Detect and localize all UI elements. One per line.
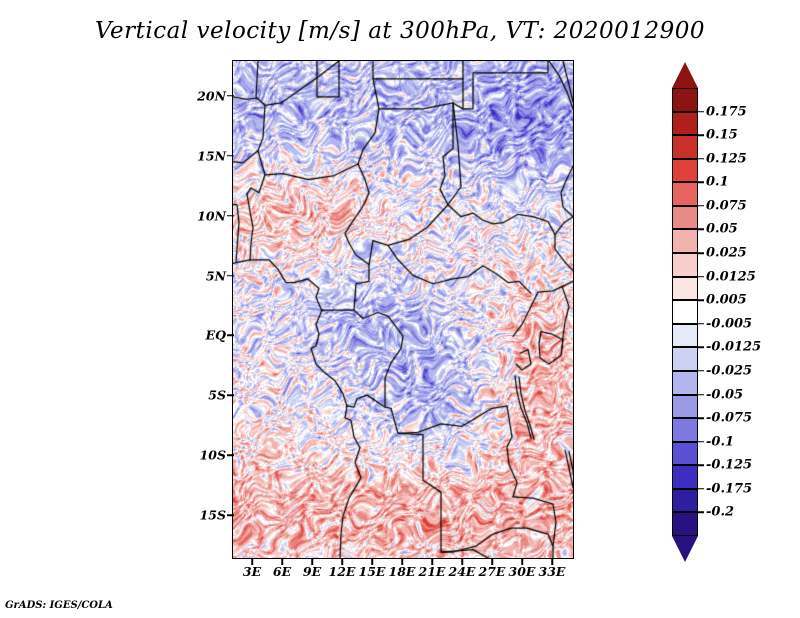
colorbar-tick xyxy=(698,347,704,349)
y-tick-label: 10S xyxy=(200,448,226,463)
colorbar-label: 0.025 xyxy=(706,246,747,261)
colorbar-tick xyxy=(698,370,704,372)
colorbar-label: 0.075 xyxy=(706,198,747,213)
colorbar-tick xyxy=(698,441,704,443)
colorbar-tick xyxy=(698,205,704,207)
colorbar-cell xyxy=(672,371,698,395)
colorbar-label: 0.125 xyxy=(706,151,747,166)
x-tick-mark xyxy=(341,558,343,565)
colorbar-tick xyxy=(698,488,704,490)
colorbar-label: -0.125 xyxy=(706,458,752,473)
y-tick-mark xyxy=(227,514,234,516)
colorbar-cell xyxy=(672,395,698,419)
colorbar-label: 0.15 xyxy=(706,128,738,143)
colorbar-cell xyxy=(672,418,698,442)
colorbar-tick xyxy=(698,182,704,184)
colorbar-label: -0.175 xyxy=(706,481,752,496)
colorbar-label: -0.0125 xyxy=(706,340,761,355)
colorbar-tick xyxy=(698,252,704,254)
y-tick-mark xyxy=(227,275,234,277)
x-tick-mark xyxy=(461,558,463,565)
y-tick-label: 20N xyxy=(197,88,226,103)
y-tick-mark xyxy=(227,454,234,456)
colorbar-cell xyxy=(672,135,698,159)
page-title: Vertical velocity [m/s] at 300hPa, VT: 2… xyxy=(0,18,800,44)
x-tick-mark xyxy=(431,558,433,565)
colorbar-label: 0.005 xyxy=(706,293,747,308)
colorbar-label: -0.005 xyxy=(706,316,752,331)
x-tick-mark xyxy=(281,558,283,565)
colorbar-label: 0.0125 xyxy=(706,269,756,284)
colorbar-tick xyxy=(698,465,704,467)
colorbar-cell xyxy=(672,277,698,301)
colorbar-tick xyxy=(698,323,704,325)
y-tick-label: 15N xyxy=(197,148,226,163)
colorbar-cell xyxy=(672,489,698,513)
colorbar-cell xyxy=(672,253,698,277)
y-tick-mark xyxy=(227,335,234,337)
colorbar-cell xyxy=(672,442,698,466)
colorbar-tick xyxy=(698,512,704,514)
colorbar-label: -0.1 xyxy=(706,434,734,449)
y-axis-labels: 20N15N10N5NEQ5S10S15S xyxy=(190,0,226,618)
y-tick-label: EQ xyxy=(206,328,226,343)
colorbar-cell xyxy=(672,206,698,230)
colorbar-cell xyxy=(672,512,698,536)
colorbar-tick xyxy=(698,111,704,113)
y-tick-mark xyxy=(227,155,234,157)
y-tick-mark xyxy=(227,95,234,97)
colorbar-cell xyxy=(672,324,698,348)
grads-credit: GrADS: IGES/COLA xyxy=(5,600,113,611)
x-tick-mark xyxy=(311,558,313,565)
colorbar-tick xyxy=(698,134,704,136)
colorbar-tick xyxy=(698,417,704,419)
colorbar-label: -0.2 xyxy=(706,505,734,520)
x-tick-mark xyxy=(521,558,523,565)
colorbar: 0.1750.150.1250.10.0750.050.0250.01250.0… xyxy=(672,62,698,562)
x-tick-mark xyxy=(401,558,403,565)
colorbar-label: -0.075 xyxy=(706,411,752,426)
y-tick-mark xyxy=(227,395,234,397)
colorbar-extend-min-arrow xyxy=(672,536,698,562)
colorbar-label: 0.05 xyxy=(706,222,738,237)
colorbar-cell xyxy=(672,229,698,253)
x-tick-mark xyxy=(371,558,373,565)
map-plot-area xyxy=(232,60,574,559)
colorbar-swatches xyxy=(672,88,698,536)
colorbar-label: -0.025 xyxy=(706,363,752,378)
colorbar-label: -0.05 xyxy=(706,387,743,402)
x-tick-mark xyxy=(251,558,253,565)
colorbar-tick xyxy=(698,229,704,231)
y-tick-label: 5S xyxy=(208,388,226,403)
colorbar-cell xyxy=(672,300,698,324)
y-tick-mark xyxy=(227,215,234,217)
x-tick-mark xyxy=(551,558,553,565)
colorbar-tick xyxy=(698,394,704,396)
colorbar-cell xyxy=(672,112,698,136)
colorbar-cell xyxy=(672,88,698,112)
colorbar-label: 0.1 xyxy=(706,175,729,190)
x-tick-mark xyxy=(491,558,493,565)
colorbar-extend-max-arrow xyxy=(672,62,698,88)
colorbar-cell xyxy=(672,159,698,183)
colorbar-label: 0.175 xyxy=(706,104,747,119)
y-axis-ticks xyxy=(232,0,242,618)
colorbar-cell xyxy=(672,182,698,206)
y-tick-label: 15S xyxy=(200,508,226,523)
colorbar-cell xyxy=(672,465,698,489)
country-borders-overlay xyxy=(233,61,573,558)
colorbar-cell xyxy=(672,347,698,371)
colorbar-tick xyxy=(698,299,704,301)
y-tick-label: 10N xyxy=(197,208,226,223)
colorbar-tick xyxy=(698,158,704,160)
colorbar-tick xyxy=(698,276,704,278)
y-tick-label: 5N xyxy=(206,268,226,283)
